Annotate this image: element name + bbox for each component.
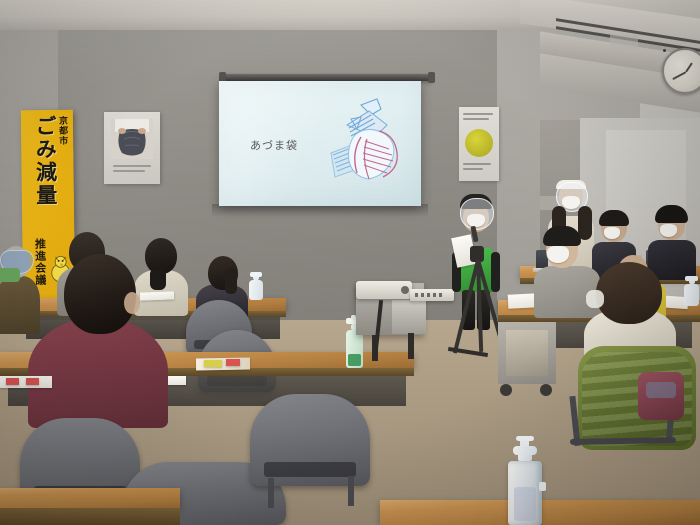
attendee-mask-3 bbox=[547, 246, 569, 263]
beanie-hat bbox=[543, 226, 581, 246]
projection-screen: あづま袋 bbox=[219, 81, 421, 206]
slide-title: あづま袋 bbox=[250, 137, 298, 153]
wall-clock bbox=[662, 48, 700, 94]
attendee-mask-2 bbox=[660, 224, 677, 237]
cloth-bag-photo-poster bbox=[104, 112, 160, 184]
chair-leg-b bbox=[348, 476, 354, 506]
av-control-deck bbox=[410, 289, 454, 301]
leaflet-red-3 bbox=[26, 378, 39, 385]
attendee-mask-1 bbox=[604, 227, 620, 239]
seminar-room-photo: あづま袋 京都市 ごみ減量 推進会議 bbox=[0, 0, 700, 525]
chair-leg-a bbox=[268, 478, 274, 508]
banner-line-main: ごみ減量 bbox=[30, 115, 61, 207]
leaflet-yellow bbox=[204, 360, 222, 367]
trolley-cloth bbox=[506, 330, 548, 376]
sanitizer-label bbox=[514, 487, 536, 521]
screen-roller-bar bbox=[222, 74, 432, 81]
table-foreground-left bbox=[0, 488, 180, 508]
wall-vent-upper bbox=[610, 35, 638, 49]
attendee-maroon-sweater bbox=[28, 254, 168, 424]
poster-caption-lines bbox=[111, 164, 153, 177]
presenter-face-mask bbox=[467, 214, 485, 227]
attendee-mask-5 bbox=[586, 290, 604, 308]
chair-front-right-of-left-block bbox=[250, 394, 370, 486]
azuma-bukuro-cloth-bag-illustration bbox=[317, 95, 413, 195]
trolley-caster-1 bbox=[500, 384, 512, 396]
ceiling-cart-projector bbox=[356, 281, 412, 299]
circular-logo-poster bbox=[459, 107, 499, 181]
table-foreground-left-edge bbox=[0, 508, 180, 525]
hand-sanitizer-bottle-right-table bbox=[684, 276, 699, 306]
sanitizer-pump-head bbox=[516, 436, 534, 441]
leaflet-red bbox=[226, 359, 240, 366]
cart-lower-box bbox=[392, 300, 426, 334]
staff-face-mask bbox=[562, 196, 580, 209]
cloth-bag-photo bbox=[111, 119, 153, 159]
poster-logo-circle bbox=[465, 129, 493, 157]
backpack-pocket bbox=[646, 382, 676, 398]
hand-sanitizer-bottle-foreground bbox=[508, 437, 542, 525]
projector-lens bbox=[401, 286, 409, 294]
leaflet-red-2 bbox=[6, 378, 19, 385]
cart-leg-right bbox=[408, 333, 414, 359]
trolley-caster-2 bbox=[540, 384, 552, 396]
sanitizer-nozzle bbox=[539, 482, 546, 491]
hand-sanitizer-bottle-left-table bbox=[249, 272, 263, 300]
